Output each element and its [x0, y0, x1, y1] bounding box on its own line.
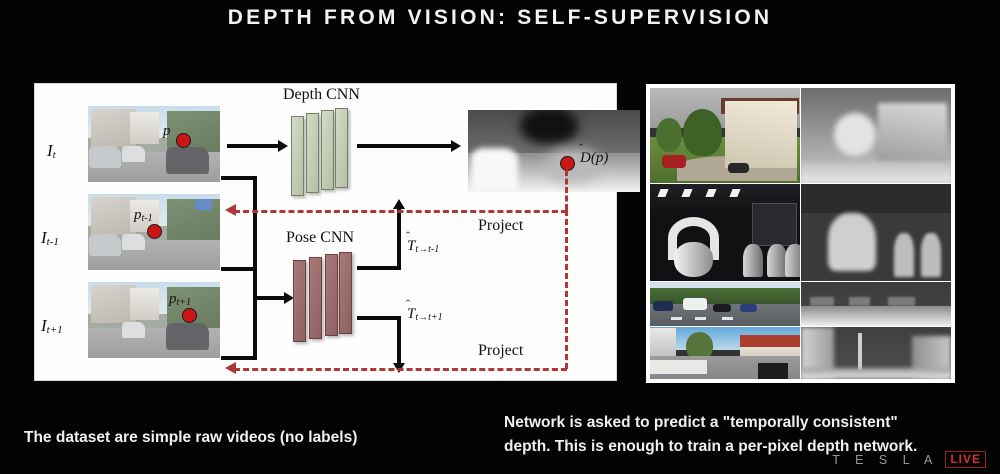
point-label-p-t-plus-1: pt+1	[169, 291, 191, 308]
point-marker-p-t-minus-1	[147, 224, 162, 239]
point-label-p-t-minus-1: pt-1	[134, 207, 153, 224]
loop-horizontal-upper	[234, 210, 567, 213]
point-marker-p-t-plus-1	[182, 308, 197, 323]
bracket-vertical-lower	[253, 267, 257, 360]
arrow-depth-cnn-to-output	[357, 144, 452, 148]
tesla-wordmark: T E S L A	[832, 453, 938, 467]
loop-horizontal-lower	[234, 368, 567, 371]
line-T-minus-vertical	[397, 208, 401, 268]
method-diagram-panel: It It-1 It+1 p pt-1 pt+1 Depth CNN	[34, 83, 617, 381]
transform-label-t-to-t-plus-1: ̂ Tt→t+1	[407, 306, 443, 323]
result-rgb-farmhouse	[650, 88, 800, 183]
result-depth-highway	[801, 282, 951, 326]
arrow-frame-to-depth-cnn	[227, 144, 279, 148]
bracket-stub-frame-t-minus-1	[221, 267, 257, 271]
frame-label-t: It	[47, 141, 56, 161]
pose-cnn-label: Pose CNN	[286, 229, 354, 247]
line-pose-to-T-minus	[357, 266, 401, 270]
depth-cnn-block	[291, 108, 349, 188]
input-frame-t	[88, 106, 220, 182]
result-depth-suburban	[801, 327, 951, 379]
frame-label-t-minus-1: It-1	[41, 228, 59, 248]
tesla-watermark: T E S L A LIVE	[832, 451, 986, 468]
transform-label-t-to-t-minus-1: ̂ Tt→t-1	[407, 238, 439, 255]
caption-right-line-1: Network is asked to predict a "temporall…	[504, 411, 934, 435]
result-depth-industrial	[801, 184, 951, 281]
arrow-head-to-depth-output	[451, 140, 461, 152]
depth-cnn-label: Depth CNN	[283, 86, 360, 104]
live-badge: LIVE	[945, 451, 986, 468]
project-label-upper: Project	[478, 217, 523, 235]
bracket-vertical-upper	[253, 176, 257, 271]
loop-vertical-from-depth	[565, 170, 568, 210]
input-frame-t-plus-1	[88, 282, 220, 358]
page-title: DEPTH FROM VISION: SELF-SUPERVISION	[0, 6, 1000, 30]
pose-cnn-block	[293, 252, 353, 334]
result-rgb-highway	[650, 282, 800, 326]
results-panel	[646, 84, 955, 383]
predicted-depth-map	[468, 110, 640, 192]
project-label-lower: Project	[478, 342, 523, 360]
result-rgb-industrial	[650, 184, 800, 281]
arrow-bracket-to-pose-cnn	[253, 296, 285, 300]
results-grid	[650, 88, 951, 379]
caption-left: The dataset are simple raw videos (no la…	[24, 426, 357, 450]
frame-label-t-plus-1: It+1	[41, 316, 63, 336]
depth-output-label: ̂ D(p)	[580, 150, 608, 167]
point-marker-p	[176, 133, 191, 148]
loop-arrow-head-upper	[225, 204, 236, 216]
loop-arrow-head-lower	[225, 362, 236, 374]
line-pose-to-T-plus	[357, 316, 401, 320]
line-T-plus-vertical	[397, 316, 401, 365]
arrow-head-to-depth-cnn	[278, 140, 288, 152]
loop-vertical-right	[565, 210, 568, 369]
point-label-p: p	[163, 123, 171, 140]
bracket-stub-frame-t	[221, 176, 257, 180]
bracket-stub-frame-t-plus-1	[221, 356, 257, 360]
point-marker-depth	[560, 156, 575, 171]
arrow-head-T-minus	[393, 199, 405, 209]
result-depth-farmhouse	[801, 88, 951, 183]
result-rgb-suburban	[650, 327, 800, 379]
